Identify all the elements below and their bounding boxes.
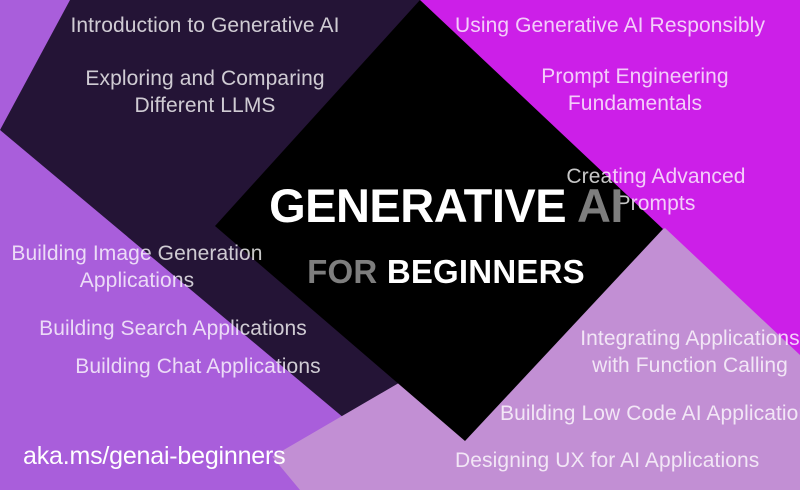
title-generative-word: GENERATIVE bbox=[269, 179, 577, 232]
poster-title-primary: GENERATIVE AI bbox=[236, 182, 656, 229]
poster-title-block: GENERATIVE AI FOR BEGINNERS bbox=[236, 182, 656, 288]
title-beginners-word: BEGINNERS bbox=[387, 253, 585, 290]
topic-introduction-to-generative-ai: Introduction to Generative AI bbox=[35, 12, 375, 39]
topic-using-generative-ai-responsibly: Using Generative AI Responsibly bbox=[430, 12, 790, 39]
topic-prompt-engineering-fundamentals: Prompt Engineering Fundamentals bbox=[470, 63, 800, 118]
topic-building-search-applications: Building Search Applications bbox=[8, 315, 338, 342]
topic-integrating-applications-function-calling: Integrating Applications with Function C… bbox=[560, 325, 800, 380]
title-for-word: FOR bbox=[307, 253, 387, 290]
poster-url[interactable]: aka.ms/genai-beginners bbox=[23, 442, 285, 471]
genai-beginners-poster: Introduction to Generative AI Exploring … bbox=[0, 0, 800, 490]
title-ai-word: AI bbox=[577, 179, 623, 232]
topic-exploring-and-comparing-llms: Exploring and Comparing Different LLMS bbox=[30, 65, 380, 120]
poster-title-secondary: FOR BEGINNERS bbox=[236, 255, 656, 288]
topic-designing-ux-for-ai-applications: Designing UX for AI Applications bbox=[455, 447, 800, 474]
topic-building-low-code-ai-applications: Building Low Code AI Applications bbox=[500, 400, 800, 427]
topic-building-chat-applications: Building Chat Applications bbox=[38, 353, 358, 380]
